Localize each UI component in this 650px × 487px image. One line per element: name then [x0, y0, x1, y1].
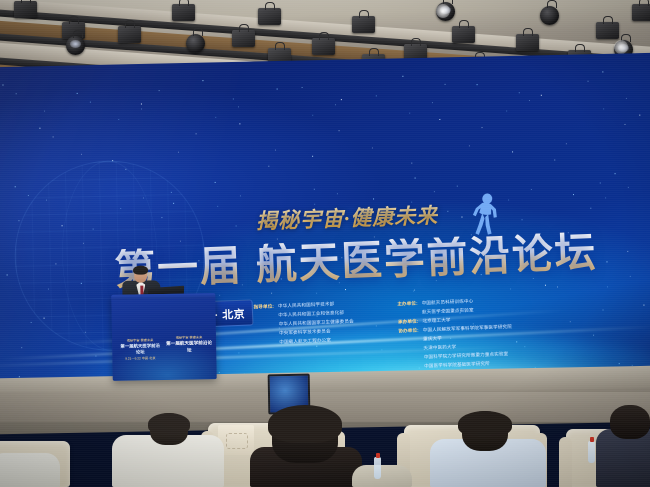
stage-light-fixture	[632, 4, 650, 21]
audience-member	[596, 405, 650, 487]
organizers-right-column: 主办单位: 中国航天员科研训练中心 航天医学全国重点实验室 承办单位: 北京理工…	[397, 296, 513, 372]
podium-date: 9.21—9.22 中国·北京	[120, 356, 160, 361]
stage-light-fixture	[258, 8, 281, 25]
podium-branding-left: 揭秘宇宙·健康未来 第一届航天医学前沿论坛 9.21—9.22 中国·北京	[120, 338, 160, 362]
stage-light-fixture	[352, 16, 375, 33]
stage-light-fixture	[66, 36, 85, 55]
ceiling-light-glow	[436, 4, 450, 18]
stage-light-fixture	[186, 34, 205, 53]
led-backdrop-screen: 揭秘宇宙·健康未来 第一届航天医学前沿论坛	[0, 53, 650, 387]
stage-light-fixture	[596, 22, 619, 39]
audience-member	[112, 417, 224, 487]
stage-light-fixture	[312, 38, 335, 55]
audience-member	[352, 461, 412, 487]
podium-title: 第一届航天医学前沿论坛	[120, 343, 160, 357]
event-subtitle: 揭秘宇宙·健康未来	[256, 200, 439, 236]
water-bottle	[588, 441, 595, 463]
event-title-part2: 航天医学前沿论坛	[255, 227, 598, 289]
podium-title: 第一届航天医学前沿论坛	[166, 340, 212, 355]
stage-light-fixture	[540, 6, 559, 25]
organizer-group: 协办单位: 中国人民解放军军事科学院军事医学研究院 重庆大学 天津中医药大学 中…	[398, 323, 513, 372]
podium: 揭秘宇宙·健康未来 第一届航天医学前沿论坛 9.21—9.22 中国·北京 揭秘…	[111, 293, 216, 381]
organizers-left-column: 指导单位: 中华人民共和国科学技术部 中华人民共和国工业和信息化部 中华人民共和…	[253, 300, 354, 349]
podium-branding-right: 揭秘宇宙·健康未来 第一届航天医学前沿论坛	[166, 335, 212, 354]
conference-photo-scene: 揭秘宇宙·健康未来 第一届航天医学前沿论坛	[0, 0, 650, 487]
stage-light-fixture	[14, 1, 37, 18]
audience-member	[0, 445, 60, 487]
audience-member-hair	[148, 413, 190, 435]
audience-member-torso	[0, 453, 60, 487]
stage-light-fixture	[232, 30, 255, 47]
stage-light-fixture	[118, 26, 141, 43]
stage-light-fixture	[172, 4, 195, 21]
organizer-label: 主办单位:	[397, 300, 418, 319]
speaker-hair	[133, 266, 148, 275]
audience-member	[430, 411, 546, 487]
audience-member	[244, 407, 368, 487]
ceiling-light-glow	[614, 40, 628, 54]
water-bottle	[374, 457, 381, 479]
audience-area	[0, 398, 650, 487]
audience-member-torso	[352, 465, 412, 487]
audience-member-hair	[458, 411, 512, 437]
organizer-value: 中国载人航天工程办公室	[279, 335, 354, 347]
organizer-group: 指导单位: 中华人民共和国科学技术部 中华人民共和国工业和信息化部 中华人民共和…	[253, 300, 354, 349]
stage-light-fixture	[452, 26, 475, 43]
organizer-label: 协办单位:	[398, 327, 420, 373]
stage-light-fixture	[516, 34, 539, 51]
audience-member-head	[610, 405, 650, 439]
audience-member-hair	[268, 405, 342, 443]
event-title: 第一届航天医学前沿论坛	[114, 231, 598, 291]
organizer-label: 指导单位:	[253, 303, 275, 349]
